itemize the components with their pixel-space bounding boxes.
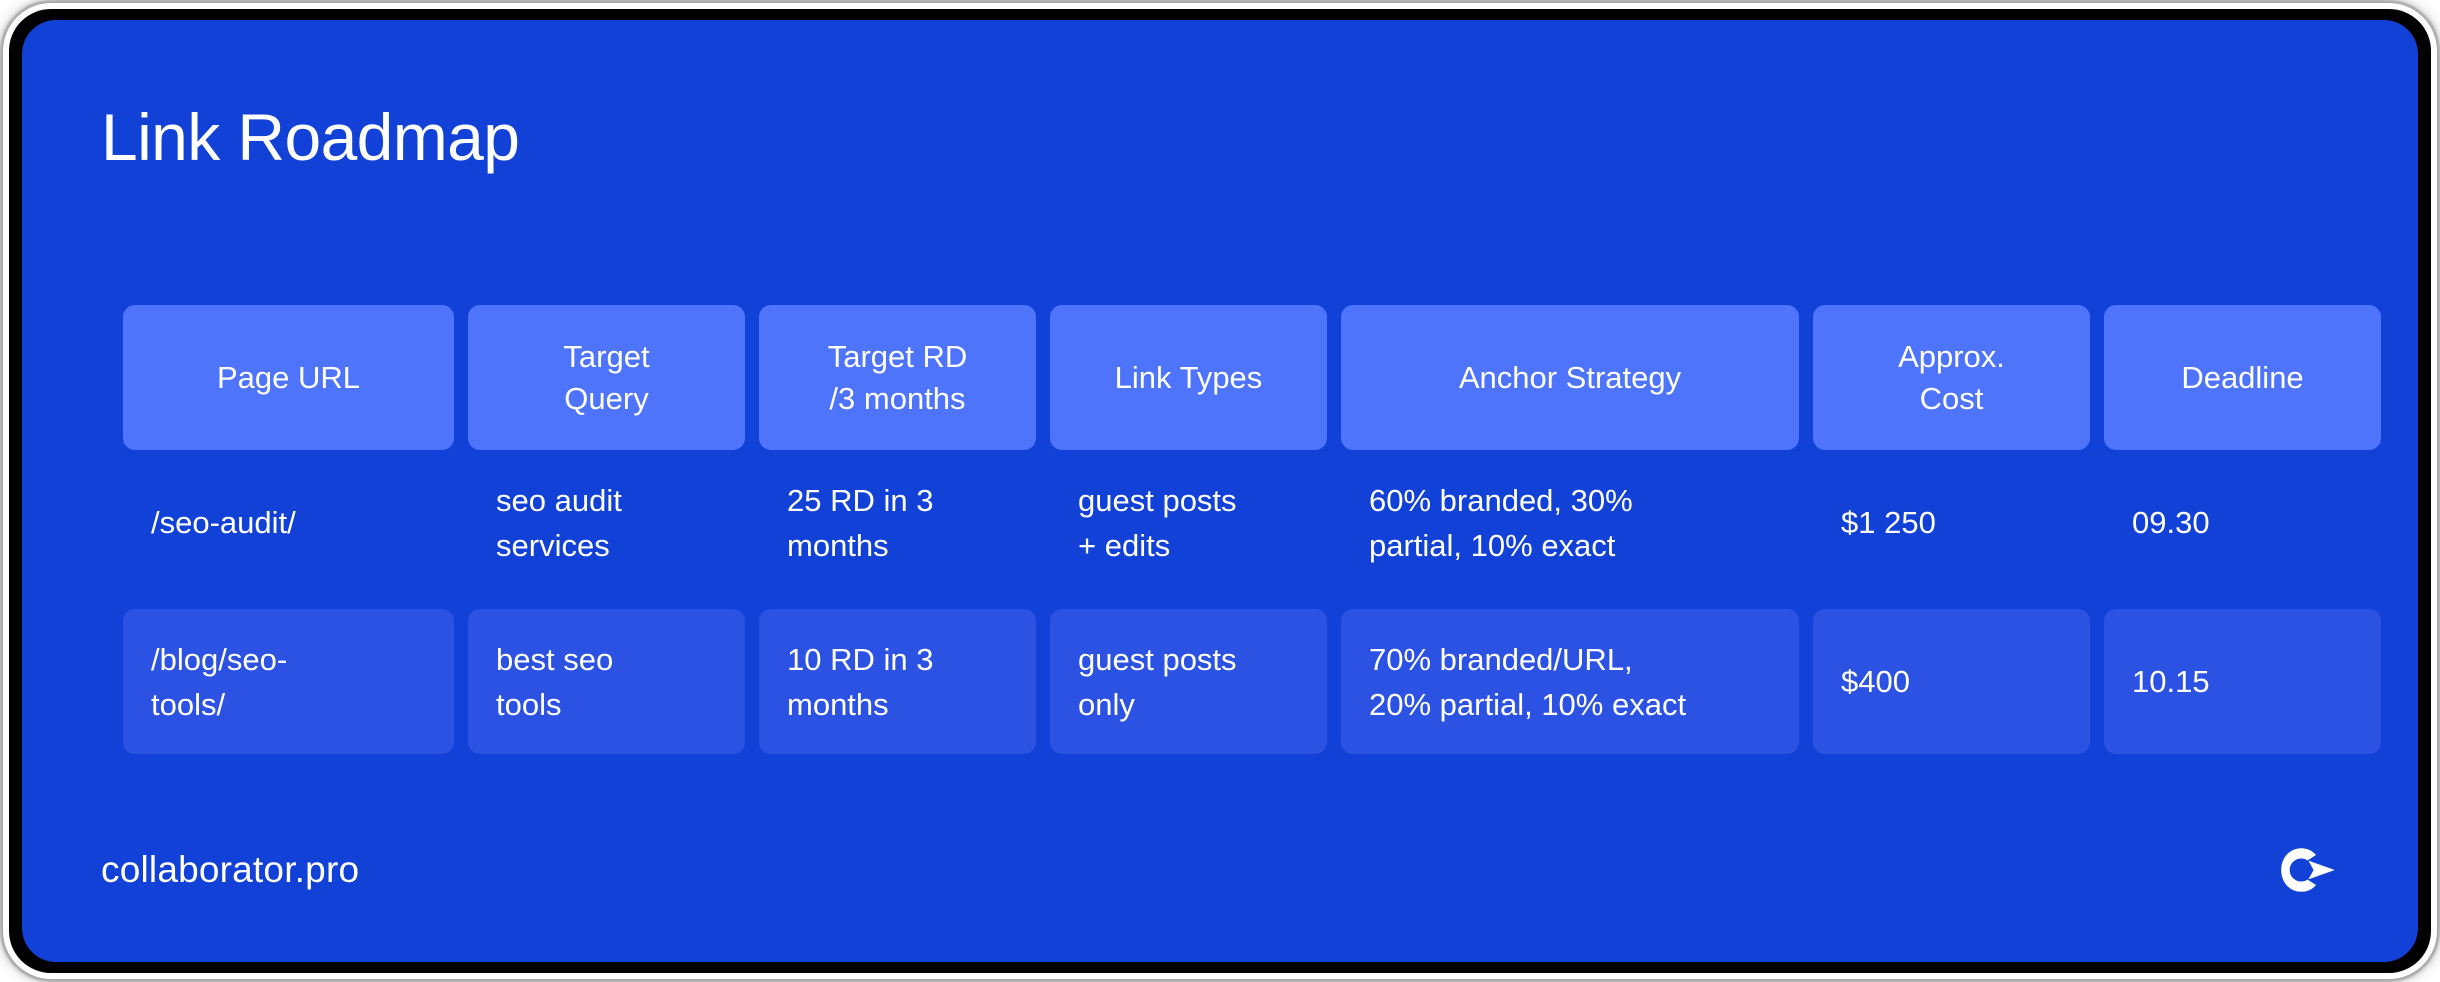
table-body: /seo-audit/seo auditservices25 RD in 3mo…	[123, 450, 2365, 754]
table-cell-value: $400	[1841, 659, 1910, 704]
table-cell-value: $1 250	[1841, 500, 1936, 545]
table-header-label: Approx.Cost	[1898, 336, 2005, 420]
roadmap-table: Page URLTargetQueryTarget RD/3 monthsLin…	[123, 305, 2365, 754]
link-roadmap-card: Link Roadmap Page URLTargetQueryTarget R…	[22, 20, 2418, 962]
table-cell-link_types: guest posts+ edits	[1050, 450, 1327, 595]
table-cell-value: /seo-audit/	[151, 500, 296, 545]
table-header-cell-anchor_strategy: Anchor Strategy	[1341, 305, 1799, 450]
table-header-label: Target RD/3 months	[828, 336, 968, 420]
table-cell-value: 25 RD in 3months	[787, 478, 933, 568]
table-cell-value: 09.30	[2132, 500, 2210, 545]
table-header-label: Page URL	[217, 357, 360, 399]
table-header-cell-page_url: Page URL	[123, 305, 454, 450]
table-cell-value: 70% branded/URL,20% partial, 10% exact	[1369, 637, 1686, 727]
card-footer: collaborator.pro	[101, 840, 2339, 900]
table-header-label: TargetQuery	[563, 336, 649, 420]
table-cell-target_rd: 10 RD in 3months	[759, 609, 1036, 754]
table-cell-link_types: guest postsonly	[1050, 609, 1327, 754]
table-cell-value: 10 RD in 3months	[787, 637, 933, 727]
table-cell-target_query: seo auditservices	[468, 450, 745, 595]
table-cell-approx_cost: $1 250	[1813, 450, 2090, 595]
screenshot-frame: Link Roadmap Page URLTargetQueryTarget R…	[0, 0, 2440, 982]
table-header-cell-target_rd: Target RD/3 months	[759, 305, 1036, 450]
table-cell-anchor_strategy: 70% branded/URL,20% partial, 10% exact	[1341, 609, 1799, 754]
table-cell-value: best seotools	[496, 637, 613, 727]
table-cell-target_query: best seotools	[468, 609, 745, 754]
table-cell-anchor_strategy: 60% branded, 30%partial, 10% exact	[1341, 450, 1799, 595]
table-header-cell-deadline: Deadline	[2104, 305, 2381, 450]
table-cell-target_rd: 25 RD in 3months	[759, 450, 1036, 595]
collaborator-c-arrow-logo-icon	[2277, 846, 2339, 894]
table-cell-value: guest posts+ edits	[1078, 478, 1237, 568]
table-header-label: Deadline	[2181, 357, 2303, 399]
table-row: /blog/seo-tools/best seotools10 RD in 3m…	[123, 609, 2365, 754]
table-cell-value: 10.15	[2132, 659, 2210, 704]
table-cell-page_url: /blog/seo-tools/	[123, 609, 454, 754]
table-header-cell-approx_cost: Approx.Cost	[1813, 305, 2090, 450]
table-row: /seo-audit/seo auditservices25 RD in 3mo…	[123, 450, 2365, 595]
table-header-label: Link Types	[1115, 357, 1263, 399]
table-cell-value: 60% branded, 30%partial, 10% exact	[1369, 478, 1633, 568]
footer-brand-text: collaborator.pro	[101, 848, 359, 892]
table-cell-value: guest postsonly	[1078, 637, 1237, 727]
page-title: Link Roadmap	[101, 98, 519, 176]
table-cell-value: /blog/seo-tools/	[151, 637, 287, 727]
table-cell-approx_cost: $400	[1813, 609, 2090, 754]
table-cell-deadline: 09.30	[2104, 450, 2381, 595]
table-cell-deadline: 10.15	[2104, 609, 2381, 754]
table-cell-page_url: /seo-audit/	[123, 450, 454, 595]
table-header-cell-link_types: Link Types	[1050, 305, 1327, 450]
table-header-label: Anchor Strategy	[1459, 357, 1681, 399]
table-header-row: Page URLTargetQueryTarget RD/3 monthsLin…	[123, 305, 2365, 450]
table-cell-value: seo auditservices	[496, 478, 622, 568]
table-header-cell-target_query: TargetQuery	[468, 305, 745, 450]
